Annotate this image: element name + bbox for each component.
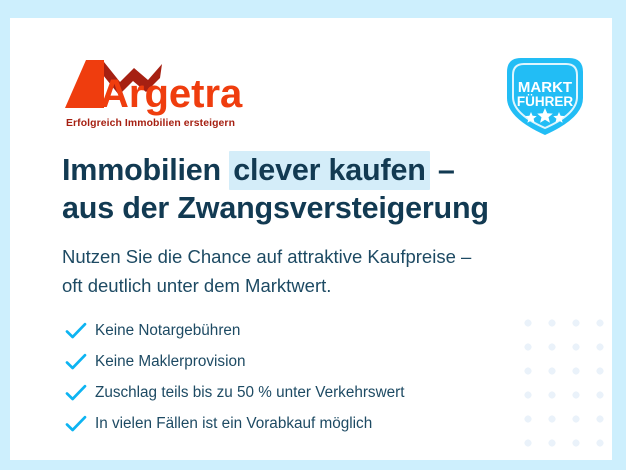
list-item-label: Keine Notargebühren (95, 321, 240, 341)
check-icon (65, 382, 95, 404)
benefits-list: Keine Notargebühren Keine Maklerprovisio… (65, 315, 535, 439)
list-item-label: In vielen Fällen ist ein Vorabkauf mögli… (95, 414, 372, 434)
list-item: Keine Notargebühren (65, 315, 535, 346)
check-icon (65, 320, 95, 342)
list-item-label: Zuschlag teils bis zu 50 % unter Verkehr… (95, 383, 404, 403)
page-title: Immobilien clever kaufen – aus der Zwang… (62, 151, 582, 227)
headline-part-3: – (430, 153, 455, 187)
list-item: Zuschlag teils bis zu 50 % unter Verkehr… (65, 377, 535, 408)
headline-line-2: aus der Zwangsversteigerung (62, 189, 582, 227)
logo-tagline: Erfolgreich Immobilien ersteigern (66, 118, 235, 129)
list-item: In vielen Fällen ist ein Vorabkauf mögli… (65, 408, 535, 439)
headline-part-1: Immobilien (62, 153, 229, 187)
logo-wordmark: Argetra (100, 72, 243, 116)
promo-card: Argetra Erfolgreich Immobilien ersteiger… (10, 18, 612, 460)
promo-page: Argetra Erfolgreich Immobilien ersteiger… (0, 0, 626, 470)
subtitle-line-1: Nutzen Sie die Chance auf attraktive Kau… (62, 242, 582, 271)
page-subtitle: Nutzen Sie die Chance auf attraktive Kau… (62, 242, 582, 300)
list-item-label: Keine Maklerprovision (95, 352, 246, 372)
argetra-logo[interactable]: Argetra Erfolgreich Immobilien ersteiger… (64, 58, 254, 130)
badge-line-2: FÜHRER (517, 94, 573, 109)
check-icon (65, 351, 95, 373)
subtitle-line-2: oft deutlich unter dem Marktwert. (62, 271, 582, 300)
headline-highlight: clever kaufen (229, 151, 429, 190)
list-item: Keine Maklerprovision (65, 346, 535, 377)
check-icon (65, 413, 95, 435)
market-leader-badge: MARKT FÜHRER (499, 52, 591, 140)
